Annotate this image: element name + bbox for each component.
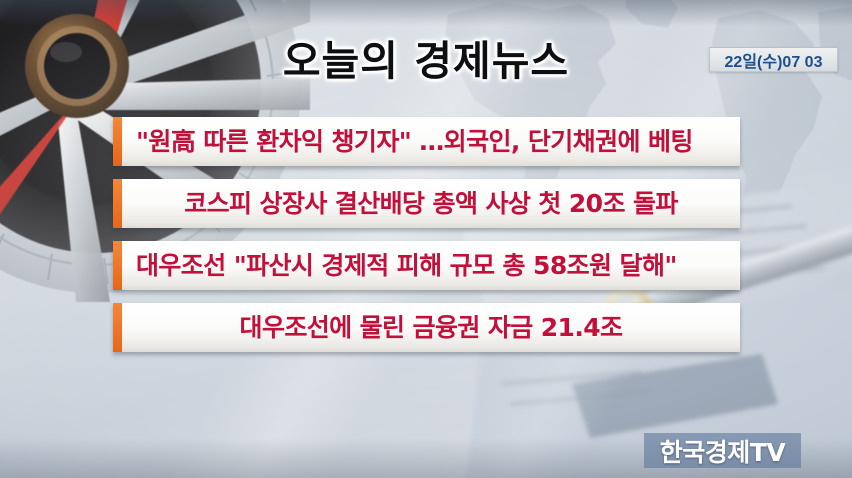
headline-text: 코스피 상장사 결산배당 총액 사상 첫 20조 돌파 <box>122 191 740 216</box>
headline-item[interactable]: "원高 따른 환차익 챙기자" …외국인, 단기채권에 베팅 <box>113 117 740 166</box>
headline-item[interactable]: 대우조선 "파산시 경제적 피해 규모 총 58조원 달해" <box>113 241 740 290</box>
headline-text: 대우조선 "파산시 경제적 피해 규모 총 58조원 달해" <box>122 253 740 278</box>
top-shade <box>0 0 852 26</box>
accent-bar-icon <box>113 117 122 166</box>
clock-badge: 22일(수)07 03 <box>709 47 838 72</box>
accent-bar-icon <box>113 179 122 228</box>
headline-text: "원高 따른 환차익 챙기자" …외국인, 단기채권에 베팅 <box>122 129 740 154</box>
headline-item[interactable]: 대우조선에 물린 금융권 자금 21.4조 <box>113 303 740 352</box>
headline-item[interactable]: 코스피 상장사 결산배당 총액 사상 첫 20조 돌파 <box>113 179 740 228</box>
accent-bar-icon <box>113 303 122 352</box>
headline-text: 대우조선에 물린 금융권 자금 21.4조 <box>122 315 740 340</box>
broadcast-screen: 오늘의 경제뉴스 22일(수)07 03 "원高 따른 환차익 챙기자" …외국… <box>0 0 852 478</box>
channel-logo-watermark: 한국경제TV <box>644 433 801 468</box>
headline-list: "원高 따른 환차익 챙기자" …외국인, 단기채권에 베팅 코스피 상장사 결… <box>113 117 740 365</box>
accent-bar-icon <box>113 241 122 290</box>
